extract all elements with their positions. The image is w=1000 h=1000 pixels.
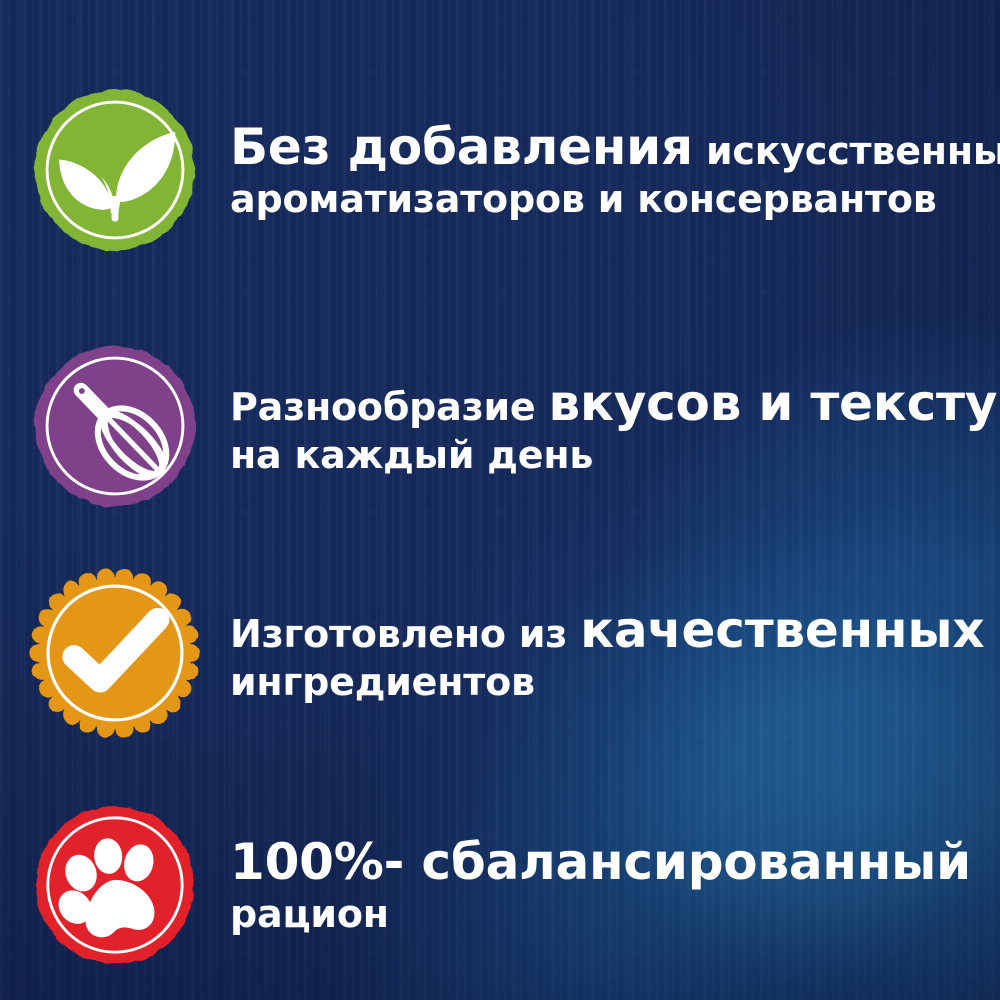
badge-wrap-variety [0, 340, 230, 512]
badge-wrap-balanced-diet [0, 800, 230, 970]
badge-no-additives [29, 84, 201, 256]
benefit-line-2: на каждый день [230, 436, 1000, 475]
benefit-item-no-additives: Без добавления искусственных ароматизато… [0, 84, 1000, 256]
benefit-text-quality-ingredients: Изготовлено из качественных ингредиентов [230, 605, 1000, 702]
benefit-line-1: 100%- сбалансированный [230, 837, 971, 888]
benefit-text-variety: Разнообразие вкусов и текстур на каждый … [230, 378, 1000, 475]
benefit-emphasis-text: вкусов и текстур [549, 374, 1000, 432]
benefit-item-balanced-diet: 100%- сбалансированный рацион [0, 800, 1000, 970]
benefit-line-1: Разнообразие вкусов и текстур [230, 378, 1000, 429]
badge-quality-ingredients [22, 560, 208, 746]
benefit-emphasis-text: 100%- сбалансированный [230, 833, 971, 891]
badge-wrap-quality-ingredients [0, 560, 230, 746]
benefit-line-1: Изготовлено из качественных [230, 605, 984, 656]
benefit-line-2: ароматизаторов и консервантов [230, 180, 1000, 219]
benefit-item-quality-ingredients: Изготовлено из качественных ингредиентов [0, 560, 1000, 746]
benefit-item-variety: Разнообразие вкусов и текстур на каждый … [0, 340, 1000, 512]
badge-variety [29, 340, 201, 512]
benefit-regular-text: Изготовлено из [230, 612, 580, 656]
benefit-text-balanced-diet: 100%- сбалансированный рацион [230, 837, 1000, 934]
benefit-text-no-additives: Без добавления искусственных ароматизато… [230, 122, 1000, 219]
benefit-line-1: Без добавления искусственных [230, 122, 1000, 173]
badge-wrap-no-additives [0, 84, 230, 256]
benefit-emphasis-text: качественных [580, 601, 984, 659]
benefit-regular-text: Разнообразие [230, 385, 549, 429]
benefit-list: Без добавления искусственных ароматизато… [0, 0, 1000, 1000]
badge-balanced-diet [30, 800, 200, 970]
benefit-regular-text: искусственных [693, 129, 1000, 173]
benefit-emphasis-text: Без добавления [230, 118, 693, 176]
benefit-line-2: рацион [230, 895, 971, 934]
benefit-line-2: ингредиентов [230, 663, 984, 702]
promo-canvas: Без добавления искусственных ароматизато… [0, 0, 1000, 1000]
